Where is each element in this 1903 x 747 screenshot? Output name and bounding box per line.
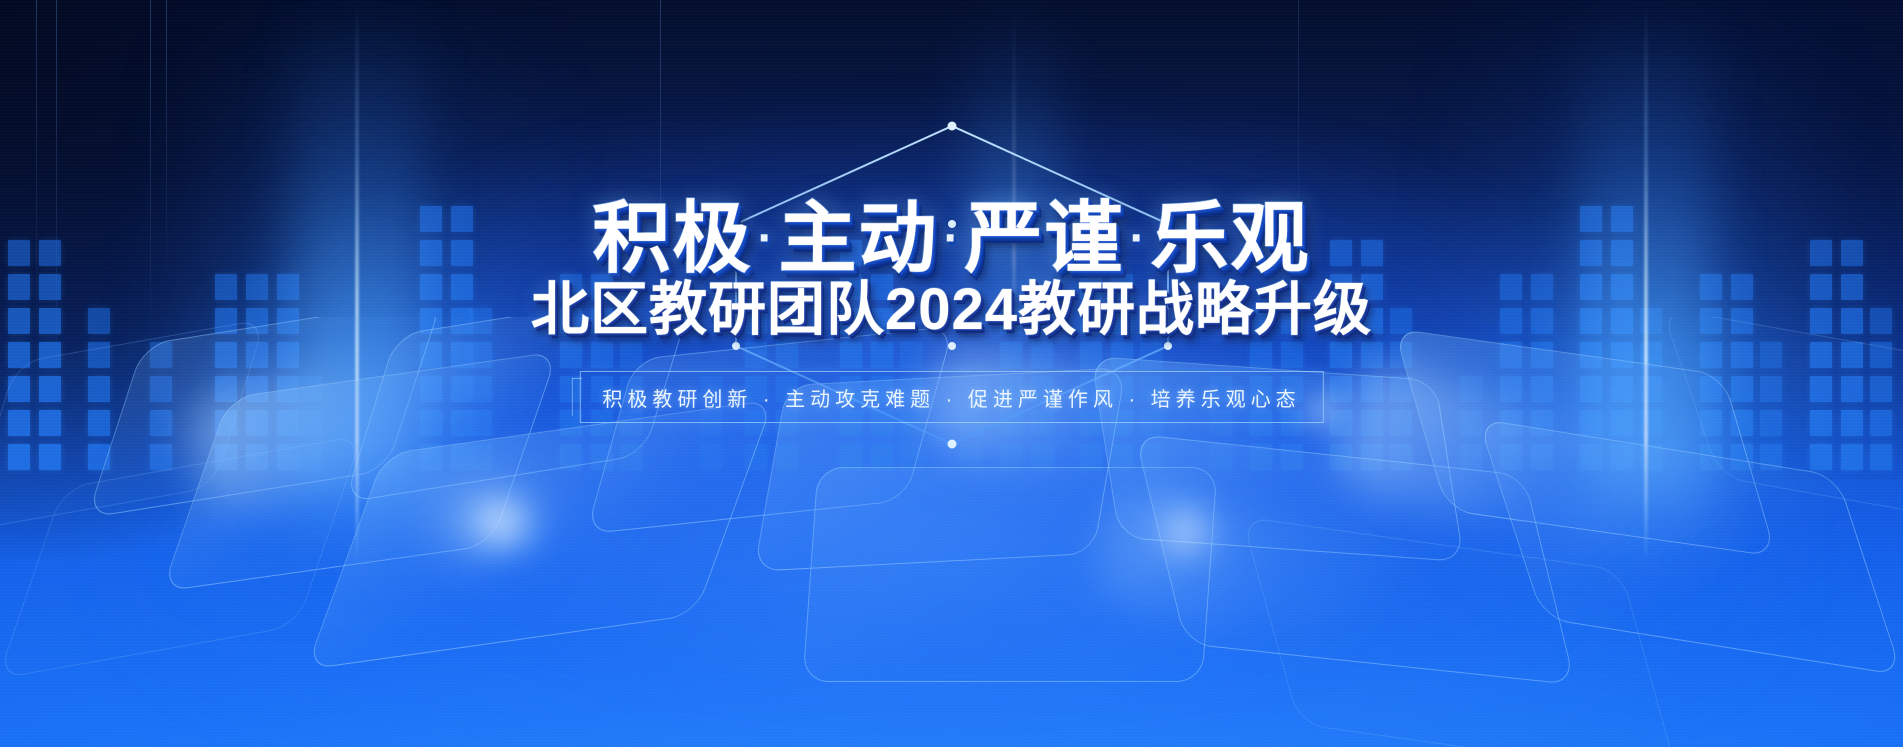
title-separator-dot: ·: [752, 211, 778, 266]
title-separator-dot: ·: [939, 211, 965, 266]
banner-root: 积极 · 主动 · 严谨 · 乐观 北区教研团队2024教研战略升级 积极教研创…: [0, 0, 1903, 747]
tagline-text: 积极教研创新 · 主动攻克难题 · 促进严谨作风 · 培养乐观心态: [602, 383, 1300, 412]
title-separator-dot: ·: [1125, 211, 1151, 266]
banner-content: 积极 · 主动 · 严谨 · 乐观 北区教研团队2024教研战略升级 积极教研创…: [0, 0, 1903, 747]
subtitle: 北区教研团队2024教研战略升级: [531, 262, 1372, 346]
tagline-box: 积极教研创新 · 主动攻克难题 · 促进严谨作风 · 培养乐观心态: [579, 371, 1323, 423]
